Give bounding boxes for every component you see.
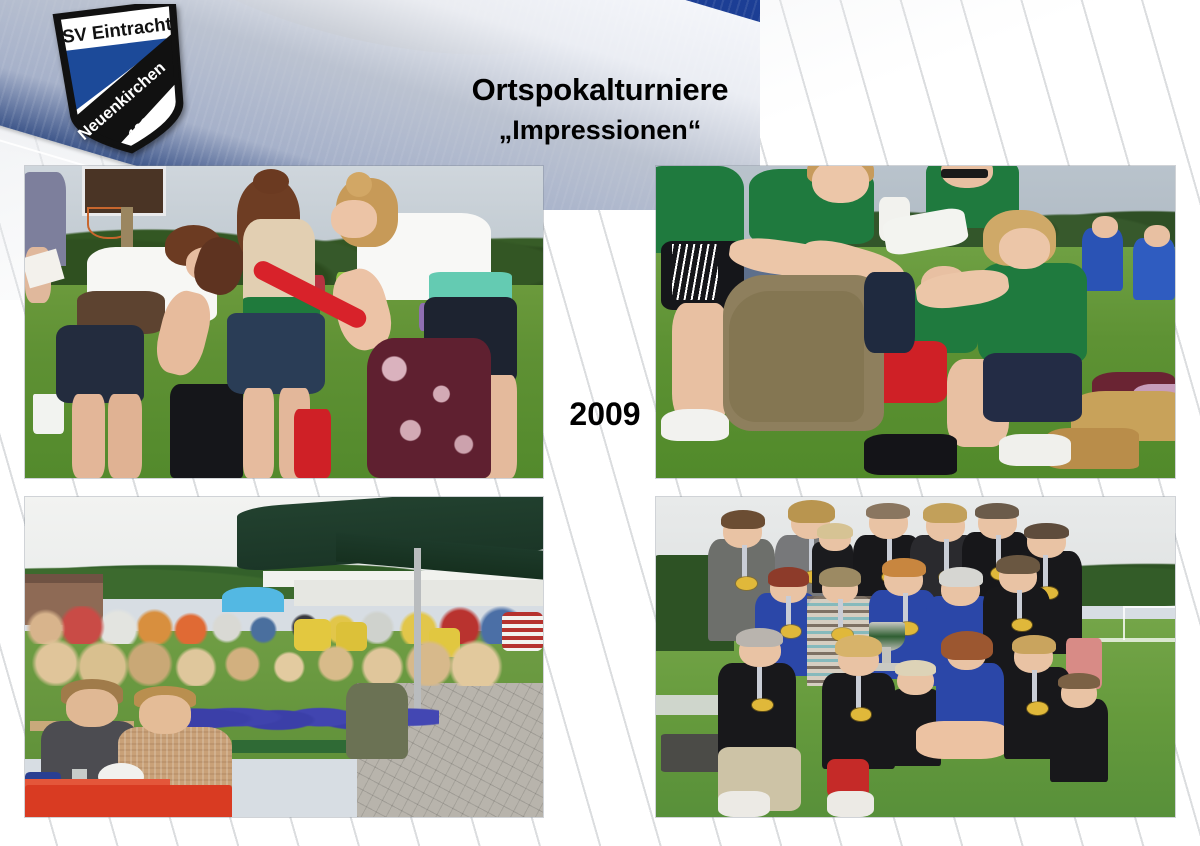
photo-top-right [656,166,1175,478]
photo-top-left [25,166,543,478]
photo-top-left-scene [25,166,543,478]
photo-bottom-right-scene [656,497,1175,817]
photo-bottom-left-scene [25,497,543,817]
page-title: Ortspokalturniere [270,74,930,107]
photo-bottom-left [25,497,543,817]
page-subtitle: „Impressionen“ [270,114,930,146]
title-block: Ortspokalturniere „Impressionen“ [270,74,930,146]
club-crest-icon: SV Eintracht Neuenkirchen 1925 [52,4,194,154]
year-label: 2009 [545,396,665,433]
slide-canvas: SV Eintracht Neuenkirchen 1925 Ortspokal… [0,0,1200,846]
photo-bottom-right [656,497,1175,817]
photo-top-right-scene [656,166,1175,478]
